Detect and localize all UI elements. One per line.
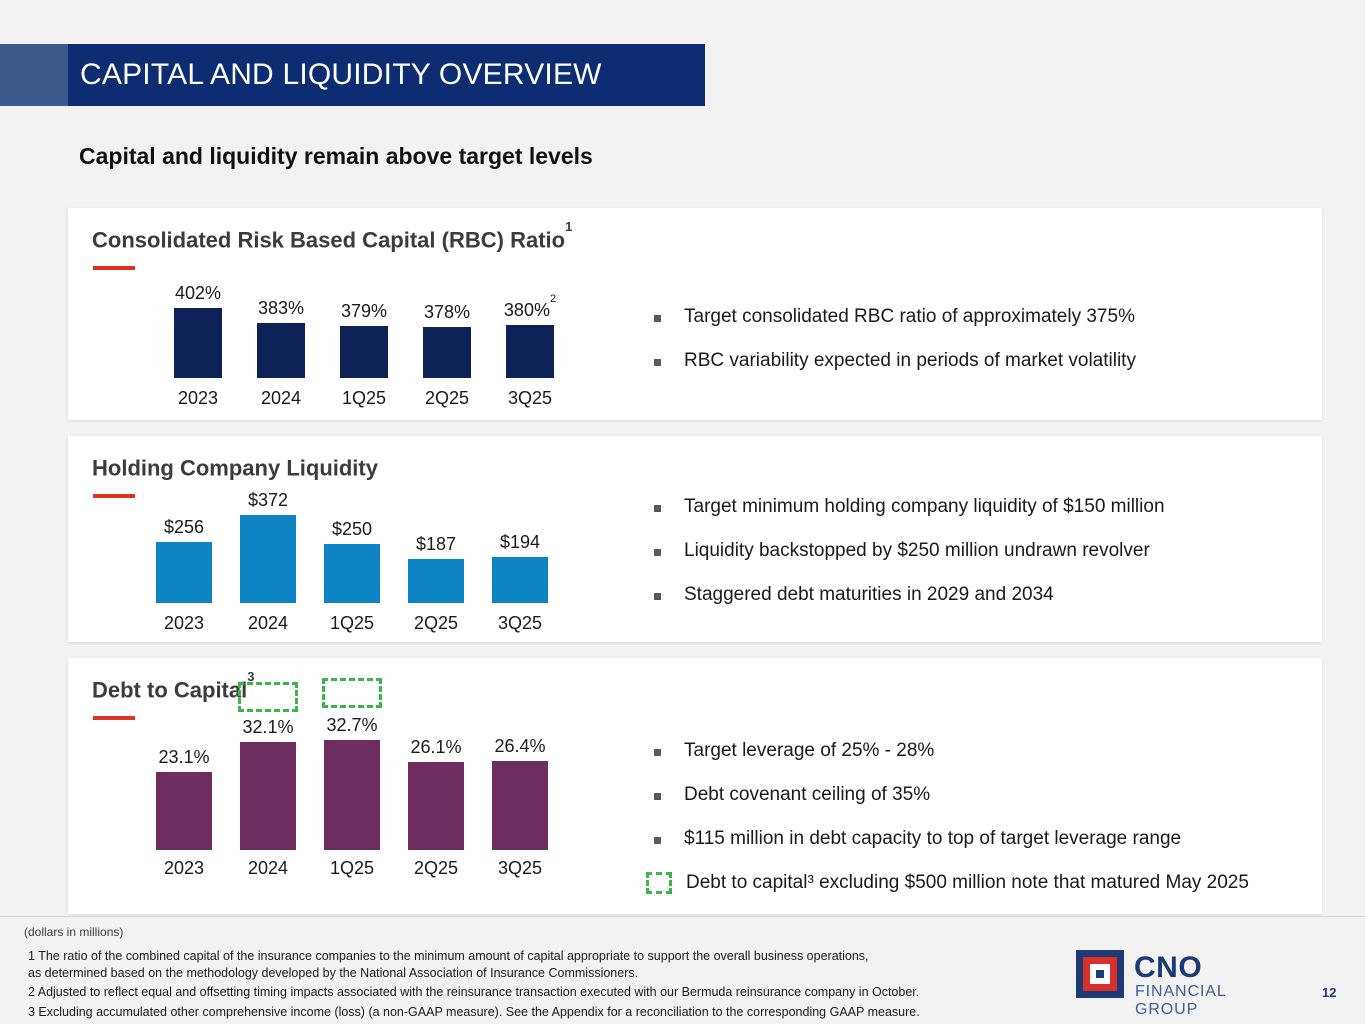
x-tick-label: 2Q25 bbox=[408, 858, 464, 879]
bar-value-label: 380%2 bbox=[504, 301, 556, 319]
bar-group-3q25: 380%2 bbox=[506, 301, 554, 378]
bullet-item: Staggered debt maturities in 2029 and 20… bbox=[638, 584, 1165, 606]
bar-group-2q25: 378% bbox=[423, 303, 471, 378]
bullet-item: $115 million in debt capacity to top of … bbox=[638, 828, 1249, 850]
bullet-text: Target minimum holding company liquidity… bbox=[684, 496, 1165, 517]
bullet-item: Liquidity backstopped by $250 million un… bbox=[638, 540, 1165, 562]
x-tick-label: 2024 bbox=[240, 858, 296, 879]
bar bbox=[156, 772, 212, 850]
bullet-item: RBC variability expected in periods of m… bbox=[638, 350, 1136, 372]
bar bbox=[408, 762, 464, 850]
red-accent-rule bbox=[93, 494, 135, 498]
bar-group-2024: 32.1% bbox=[240, 718, 296, 850]
card-title-rbc: Consolidated Risk Based Capital (RBC) Ra… bbox=[92, 227, 572, 253]
cno-logo: CNO FINANCIAL GROUP bbox=[1076, 950, 1286, 1004]
bar bbox=[324, 740, 380, 850]
bar bbox=[423, 327, 471, 378]
bar-value-label: 32.7% bbox=[326, 716, 377, 734]
cno-logo-mark-icon bbox=[1076, 950, 1124, 998]
card-title-debt: Debt to Capital3 bbox=[92, 677, 254, 703]
bar-value-footnote-ref: 2 bbox=[550, 293, 556, 305]
legend-item: Debt to capital³ excluding $500 million … bbox=[638, 872, 1249, 894]
x-tick-label: 2023 bbox=[156, 613, 212, 634]
bar-value-label: 378% bbox=[424, 303, 470, 321]
bullet-item: Target minimum holding company liquidity… bbox=[638, 496, 1165, 518]
x-tick-label: 3Q25 bbox=[492, 613, 548, 634]
bar-value-label: 383% bbox=[258, 299, 304, 317]
bar bbox=[492, 557, 548, 603]
card-title-debt-text: Debt to Capital bbox=[92, 677, 247, 702]
x-tick-label: 2Q25 bbox=[423, 388, 471, 409]
red-accent-rule bbox=[93, 266, 135, 270]
bullet-marker-icon bbox=[654, 505, 661, 512]
bullet-text: Target consolidated RBC ratio of approxi… bbox=[684, 306, 1135, 327]
footnote-3: 3 Excluding accumulated other comprehens… bbox=[28, 1004, 920, 1021]
page-number: 12 bbox=[1322, 985, 1336, 1000]
card-debt-to-capital: Debt to Capital3 23.1%32.1%32.7%26.1%26.… bbox=[68, 658, 1322, 914]
x-tick-label: 1Q25 bbox=[340, 388, 388, 409]
bar-group-2023: $256 bbox=[156, 518, 212, 603]
bar bbox=[340, 326, 388, 378]
x-tick-label: 1Q25 bbox=[324, 858, 380, 879]
red-accent-rule bbox=[93, 716, 135, 720]
card-title-liquidity-text: Holding Company Liquidity bbox=[92, 455, 378, 480]
annotation-box-2024: 25.6% bbox=[238, 682, 298, 712]
bullet-marker-icon bbox=[654, 315, 661, 322]
bar bbox=[240, 742, 296, 850]
slide-canvas: CAPITAL AND LIQUIDITY OVERVIEW Capital a… bbox=[0, 0, 1365, 1024]
bar bbox=[492, 761, 548, 850]
bar bbox=[506, 325, 554, 378]
bar-value-label: 26.4% bbox=[494, 737, 545, 755]
bar-value-label: $194 bbox=[500, 533, 540, 551]
card-holding-company-liquidity: Holding Company Liquidity $256$372$250$1… bbox=[68, 436, 1322, 642]
bullet-text: Debt to capital³ excluding $500 million … bbox=[686, 872, 1249, 893]
bullet-marker-icon bbox=[654, 793, 661, 800]
footnote-2: 2 Adjusted to reflect equal and offsetti… bbox=[28, 984, 919, 1001]
bullets-debt: Target leverage of 25% - 28%Debt covenan… bbox=[638, 740, 1249, 916]
bullet-text: Staggered debt maturities in 2029 and 20… bbox=[684, 584, 1054, 605]
chart-rbc: 402%383%379%378%380%2 bbox=[174, 278, 554, 378]
bullets-liquidity: Target minimum holding company liquidity… bbox=[638, 496, 1165, 628]
bullets-rbc: Target consolidated RBC ratio of approxi… bbox=[638, 306, 1136, 394]
bar-value-label: 379% bbox=[341, 302, 387, 320]
bar-group-2023: 23.1% bbox=[156, 748, 212, 850]
bar-group-1q25: $250 bbox=[324, 520, 380, 603]
bar-group-3q25: $194 bbox=[492, 533, 548, 603]
bullet-marker-icon bbox=[654, 749, 661, 756]
bar-group-3q25: 26.4% bbox=[492, 737, 548, 850]
bar bbox=[324, 544, 380, 603]
bar-group-1q25: 379% bbox=[340, 302, 388, 378]
bullet-marker-icon bbox=[654, 549, 661, 556]
bullet-marker-icon bbox=[654, 359, 661, 366]
bullet-text: RBC variability expected in periods of m… bbox=[684, 350, 1136, 371]
footnote-1: 1 The ratio of the combined capital of t… bbox=[28, 948, 869, 982]
bar-value-label: $256 bbox=[164, 518, 204, 536]
bar-group-2024: $372 bbox=[240, 491, 296, 603]
bullet-item: Target consolidated RBC ratio of approxi… bbox=[638, 306, 1136, 328]
bar-group-2023: 402% bbox=[174, 284, 222, 378]
x-tick-label: 2023 bbox=[156, 858, 212, 879]
logo-square-center bbox=[1096, 970, 1104, 978]
bar-group-2q25: $187 bbox=[408, 535, 464, 603]
bar-value-label: $372 bbox=[248, 491, 288, 509]
card-title-liquidity: Holding Company Liquidity bbox=[92, 455, 378, 481]
footer-divider bbox=[0, 916, 1365, 917]
bullet-text: Debt covenant ceiling of 35% bbox=[684, 784, 930, 805]
card-title-rbc-text: Consolidated Risk Based Capital (RBC) Ra… bbox=[92, 227, 565, 252]
bar-value-label: $250 bbox=[332, 520, 372, 538]
subtitle: Capital and liquidity remain above targe… bbox=[79, 143, 593, 170]
bar-group-2024: 383% bbox=[257, 299, 305, 378]
bar-value-label: 402% bbox=[175, 284, 221, 302]
bullet-text: Liquidity backstopped by $250 million un… bbox=[684, 540, 1150, 561]
card-rbc-ratio: Consolidated Risk Based Capital (RBC) Ra… bbox=[68, 208, 1322, 420]
bar-group-1q25: 32.7% bbox=[324, 716, 380, 850]
logo-tagline: FINANCIAL GROUP bbox=[1135, 983, 1286, 1019]
card-title-rbc-footnote-ref: 1 bbox=[565, 219, 572, 234]
x-tick-label: 2Q25 bbox=[408, 613, 464, 634]
header-accent-block bbox=[0, 44, 68, 106]
x-tick-label: 3Q25 bbox=[506, 388, 554, 409]
bar-group-2q25: 26.1% bbox=[408, 738, 464, 850]
bar bbox=[156, 542, 212, 603]
x-tick-label: 2024 bbox=[257, 388, 305, 409]
x-tick-label: 2023 bbox=[174, 388, 222, 409]
dashed-swatch-icon bbox=[646, 872, 672, 894]
x-tick-label: 1Q25 bbox=[324, 613, 380, 634]
bar-value-label: 32.1% bbox=[242, 718, 293, 736]
chart-liquidity: $256$372$250$187$194 bbox=[156, 491, 548, 603]
footer-units-label: (dollars in millions) bbox=[24, 925, 123, 939]
bar-value-label: 23.1% bbox=[158, 748, 209, 766]
logo-wordmark: CNO bbox=[1134, 951, 1202, 985]
bullet-marker-icon bbox=[654, 837, 661, 844]
bar bbox=[257, 323, 305, 378]
bar-value-label: $187 bbox=[416, 535, 456, 553]
bar bbox=[408, 559, 464, 603]
x-tick-label: 3Q25 bbox=[492, 858, 548, 879]
chart-debt: 23.1%32.1%32.7%26.1%26.4%25.6%26.1% bbox=[156, 718, 548, 850]
bullet-text: $115 million in debt capacity to top of … bbox=[684, 828, 1181, 849]
x-tick-label: 2024 bbox=[240, 613, 296, 634]
page-title: CAPITAL AND LIQUIDITY OVERVIEW bbox=[80, 44, 602, 106]
bar bbox=[240, 515, 296, 603]
bullet-item: Target leverage of 25% - 28% bbox=[638, 740, 1249, 762]
bullet-marker-icon bbox=[654, 593, 661, 600]
bar-value-label: 26.1% bbox=[410, 738, 461, 756]
bullet-text: Target leverage of 25% - 28% bbox=[684, 740, 934, 761]
annotation-box-1q25: 26.1% bbox=[322, 678, 382, 708]
bar bbox=[174, 308, 222, 378]
bullet-item: Debt covenant ceiling of 35% bbox=[638, 784, 1249, 806]
